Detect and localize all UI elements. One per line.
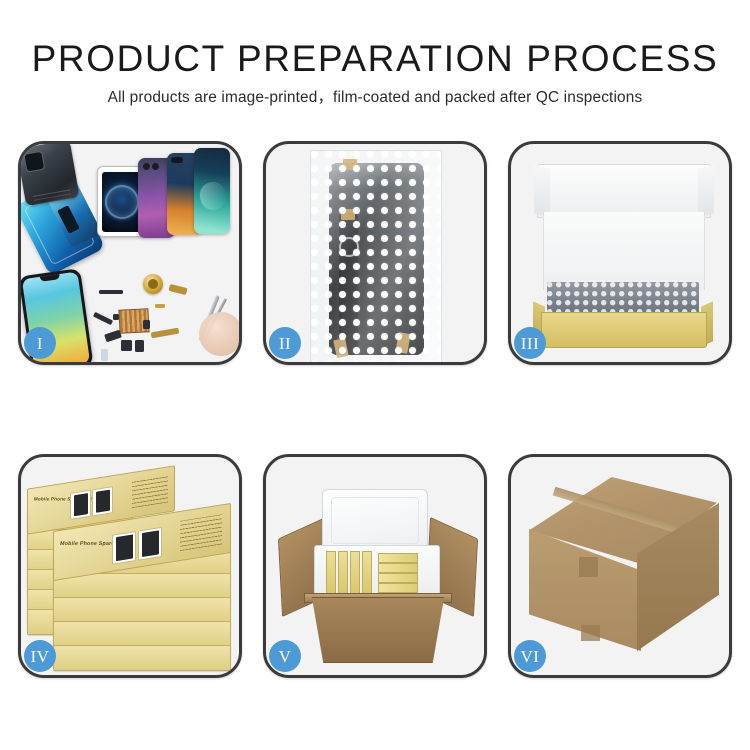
sealed-shipping-carton [525,477,721,663]
phone-teal [194,148,230,234]
photo-foam-carton-packing [266,457,484,675]
carton-tab-lower [581,625,600,641]
small-part-6 [101,349,108,361]
process-step-card-2[interactable]: II [263,141,487,365]
box-spec-lines-back [132,474,168,508]
step-badge-2: II [269,327,301,359]
process-step-card-4[interactable]: Mobile Phone Spare Parts Mobile Phone Sp… [18,454,242,678]
box-stack: Mobile Phone Spare Parts Mobile Phone Sp… [27,471,239,673]
screen-notch [114,168,129,172]
inner-box-8 [378,583,418,593]
photo-inner-box-packing [511,144,729,362]
flex-cable-1 [168,284,187,295]
box-front-panel-kraft [541,312,707,348]
step-badge-1: I [24,327,56,359]
plastic-sheen [311,151,441,363]
process-step-grid: I II [18,141,732,678]
flex-cable-2 [151,328,180,339]
small-part-1 [99,290,123,294]
box-window-back-1 [70,490,91,520]
page-subtitle: All products are image-printed，film-coat… [0,88,750,108]
small-part-2 [104,330,122,343]
open-carton-with-foam [280,471,476,667]
small-part-4 [121,340,132,351]
inner-box-4 [362,551,372,595]
technician-hand [199,312,242,356]
photo-stacked-boxes: Mobile Phone Spare Parts Mobile Phone Sp… [21,457,239,675]
foam-box-lid [322,489,428,553]
inner-box-2 [338,551,348,595]
product-preparation-infographic: PRODUCT PREPARATION PROCESS All products… [0,0,750,750]
process-step-card-5[interactable]: V [263,454,487,678]
box-window-back-2 [92,486,113,516]
carton-front-panel [306,597,450,663]
open-mailer-box [533,164,713,344]
photo-sealed-carton [511,457,729,675]
inner-box-1 [326,551,336,595]
photo-product-inspection [21,144,239,362]
box-window-front-2 [138,527,162,561]
bubble-wrap-bag [310,150,442,364]
box-lid-white [537,164,711,218]
process-step-card-6[interactable]: VI [508,454,732,678]
inner-box-3 [350,551,360,595]
small-part-9 [155,304,165,308]
small-part-8 [113,314,119,320]
photo-bubble-wrap-packing [266,144,484,362]
step-badge-6: VI [514,640,546,672]
speaker-module-gold [143,274,163,294]
inner-box-6 [378,563,418,573]
small-part-5 [135,340,144,352]
phone-back-housing [18,141,80,206]
box-spec-lines-front [180,514,222,551]
step-badge-4: IV [24,640,56,672]
process-step-card-1[interactable]: I [18,141,242,365]
inner-box-5 [378,553,418,563]
step-badge-3: III [514,327,546,359]
page-title: PRODUCT PREPARATION PROCESS [0,38,750,79]
stacked-box-r5 [53,645,231,671]
box-window-front-1 [112,531,136,565]
process-step-card-3[interactable]: III [508,141,732,365]
box-back-panel [543,212,705,290]
small-part-3 [93,312,113,325]
small-part-7 [143,320,150,329]
carton-tab-upper [579,557,598,577]
inner-box-7 [378,573,418,583]
step-badge-5: V [269,640,301,672]
bubble-wrap-fill [547,282,699,316]
